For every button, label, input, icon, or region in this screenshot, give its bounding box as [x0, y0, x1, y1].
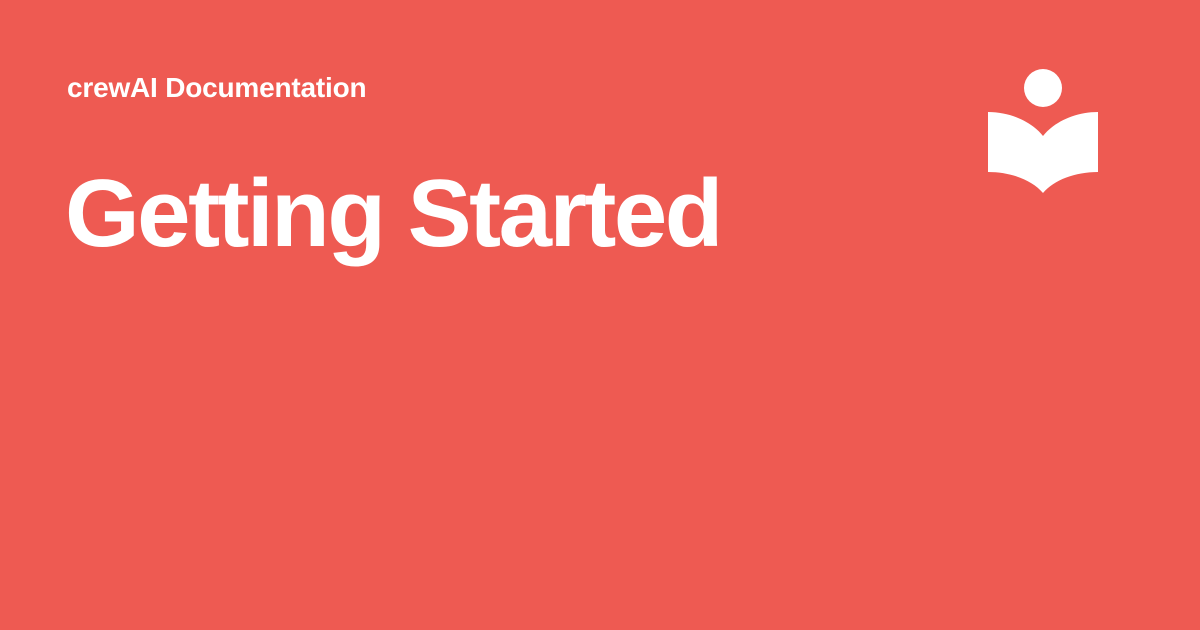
documentation-social-banner: crewAI Documentation Getting Started — [0, 0, 1200, 630]
site-name-eyebrow: crewAI Documentation — [67, 68, 366, 108]
reader-head-circle — [1024, 69, 1062, 107]
open-book-shape — [988, 112, 1098, 193]
page-title: Getting Started — [65, 160, 721, 268]
open-book-reader-glyph — [980, 62, 1108, 202]
banner-text-block: crewAI Documentation Getting Started — [67, 0, 927, 630]
open-book-reader-icon — [980, 62, 1108, 202]
